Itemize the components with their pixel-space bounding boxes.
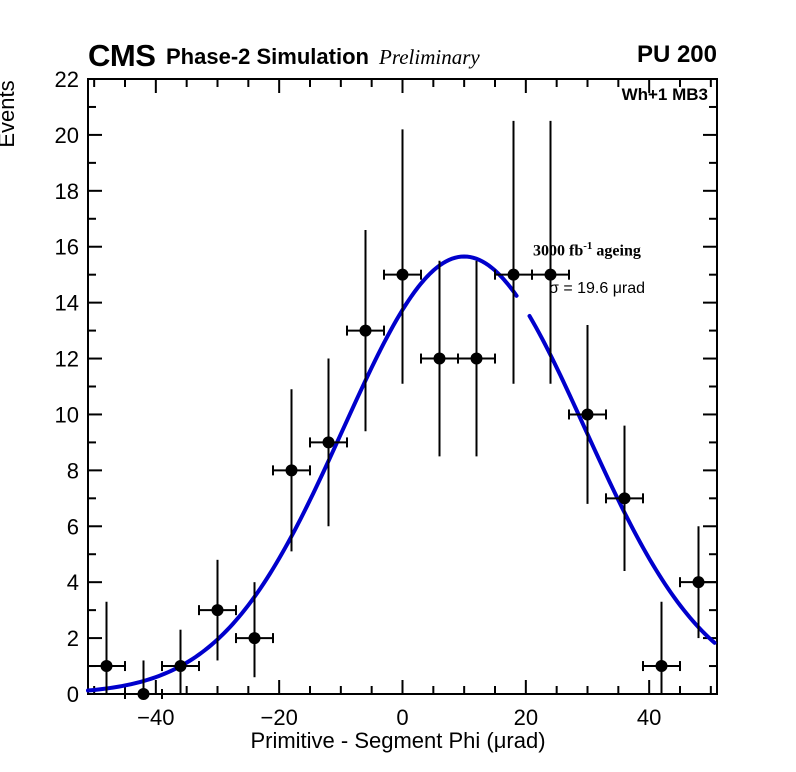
- plot-area: 0246810121416182022−40−2002040: [0, 0, 796, 772]
- plot-canvas: CMS Phase-2 Simulation Preliminary PU 20…: [0, 0, 796, 772]
- data-point: [175, 660, 187, 672]
- svg-text:16: 16: [55, 235, 79, 260]
- svg-text:12: 12: [55, 347, 79, 372]
- svg-text:−20: −20: [261, 705, 298, 730]
- svg-text:18: 18: [55, 179, 79, 204]
- data-point: [323, 436, 335, 448]
- svg-text:0: 0: [396, 705, 408, 730]
- svg-text:20: 20: [55, 123, 79, 148]
- error-bar: [88, 602, 125, 694]
- data-point: [138, 688, 150, 700]
- error-bars: [88, 121, 717, 699]
- data-point: [212, 604, 224, 616]
- data-point: [471, 353, 483, 365]
- data-point: [101, 660, 113, 672]
- data-point: [582, 408, 594, 420]
- svg-text:10: 10: [55, 402, 79, 427]
- svg-text:14: 14: [55, 291, 79, 316]
- error-bar: [532, 121, 569, 384]
- error-bar: [384, 129, 421, 383]
- error-bar: [495, 121, 532, 384]
- svg-text:2: 2: [67, 626, 79, 651]
- svg-text:6: 6: [67, 514, 79, 539]
- data-point: [397, 269, 409, 281]
- svg-text:−40: −40: [137, 705, 174, 730]
- data-point: [656, 660, 668, 672]
- svg-text:0: 0: [67, 682, 79, 707]
- data-point: [249, 632, 261, 644]
- svg-text:8: 8: [67, 458, 79, 483]
- svg-text:4: 4: [67, 570, 79, 595]
- data-point: [619, 492, 631, 504]
- gaussian-fit-curve: [88, 257, 517, 691]
- svg-text:22: 22: [55, 67, 79, 92]
- data-point: [286, 464, 298, 476]
- data-point: [693, 576, 705, 588]
- svg-text:40: 40: [637, 705, 661, 730]
- data-point: [360, 325, 372, 337]
- data-point: [434, 353, 446, 365]
- error-bar: [236, 582, 273, 677]
- data-point: [545, 269, 557, 281]
- data-point: [508, 269, 520, 281]
- gaussian-fit-curve-segment2: [530, 316, 715, 643]
- svg-text:20: 20: [514, 705, 538, 730]
